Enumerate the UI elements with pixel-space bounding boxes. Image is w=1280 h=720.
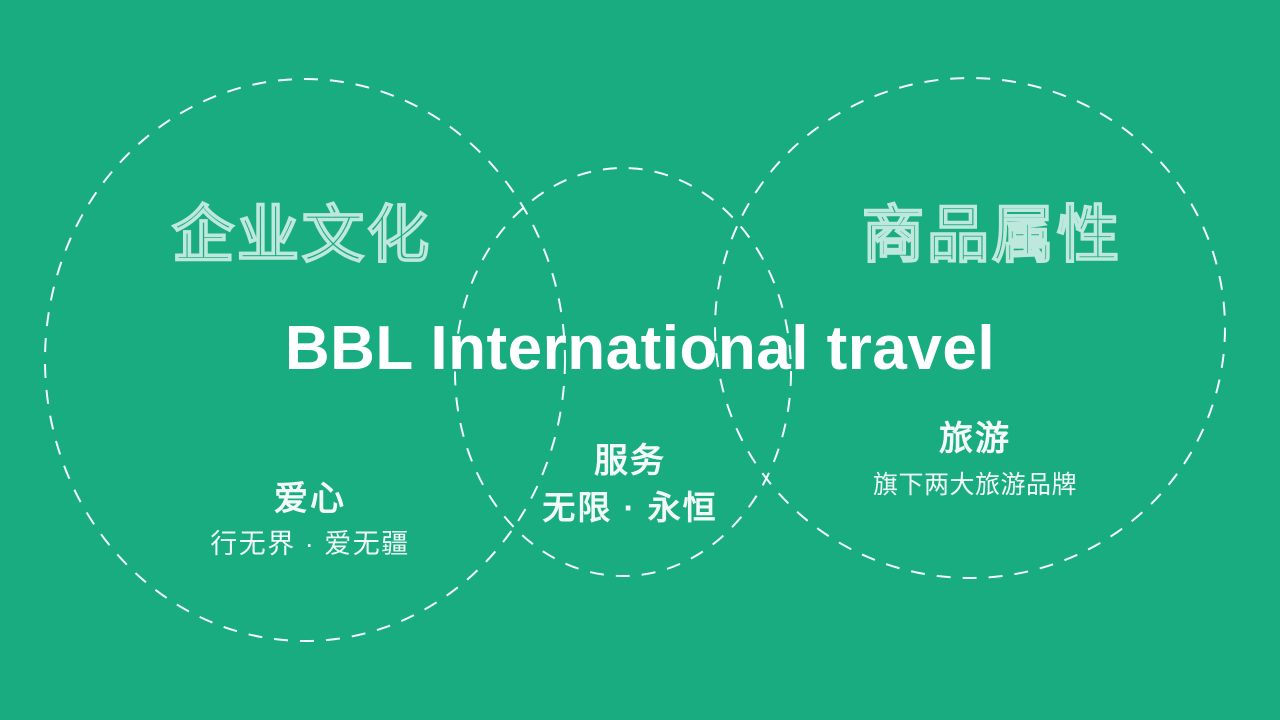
ghost-label-culture: 企业文化 <box>172 205 432 267</box>
cluster-culture: 爱心 行无界 · 爱无疆 <box>150 478 470 562</box>
cluster-culture-headline: 爱心 <box>150 478 470 521</box>
cluster-product-headline: 旅游 <box>830 418 1120 461</box>
cluster-service-subline: 无限 · 永恒 <box>490 487 770 530</box>
cluster-culture-subline: 行无界 · 爱无疆 <box>150 527 470 562</box>
ghost-label-product: 商品属性 <box>862 205 1122 267</box>
cluster-service-headline: 服务 <box>490 440 770 483</box>
page-title: BBL International travel <box>0 316 1280 381</box>
cluster-product: 旅游 旗下两大旅游品牌 <box>830 418 1120 501</box>
cluster-service: 服务 无限 · 永恒 <box>490 440 770 529</box>
cluster-product-subline: 旗下两大旅游品牌 <box>830 469 1120 502</box>
slide-canvas: 企业文化 商品属性 BBL International travel 爱心 行无… <box>0 0 1280 720</box>
